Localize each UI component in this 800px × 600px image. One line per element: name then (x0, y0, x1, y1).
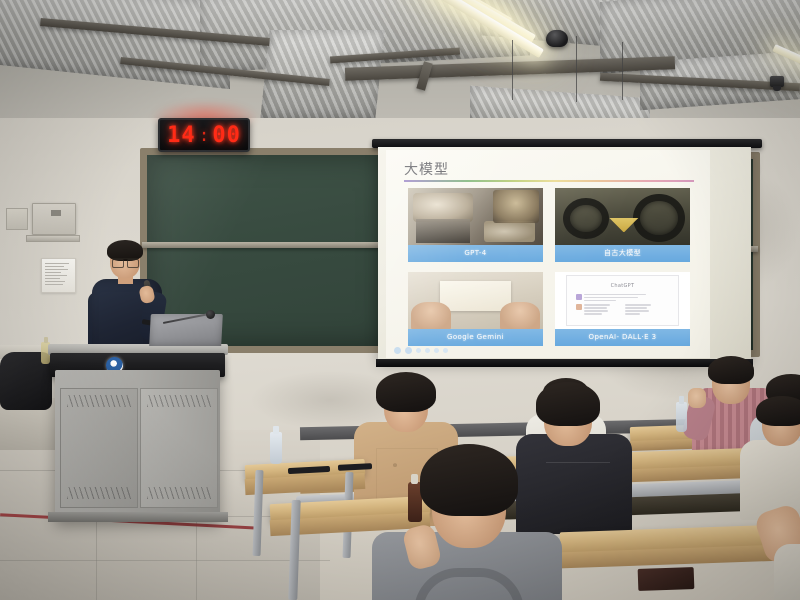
wall-camera (770, 76, 784, 87)
pen-icon (416, 348, 421, 353)
clock-separator: : (199, 125, 210, 146)
switch-strip (26, 235, 80, 242)
lectern-base (48, 512, 228, 522)
water-bottle (270, 432, 282, 464)
presentation-slide: 大模型 GPT-4 自古大模型 (386, 150, 710, 358)
led-wall-clock: 14 : 00 (158, 118, 250, 152)
bottle-cap (411, 474, 418, 484)
bottle-cap (273, 426, 279, 434)
panel-caption: OpenAI- DALL·E 3 (555, 329, 690, 346)
lectern-door-right[interactable] (140, 388, 218, 508)
projection-screen: 大模型 GPT-4 自古大模型 (378, 147, 751, 361)
dome-security-camera (546, 30, 568, 47)
circle-icon (443, 348, 448, 353)
slide-panel-dalle: ChatGPT (555, 272, 690, 346)
circle-icon (425, 348, 430, 353)
notice-sheet (41, 258, 76, 293)
bottle-cap (679, 396, 684, 404)
duct-hanger (512, 40, 513, 100)
panel-caption: 自古大模型 (555, 245, 690, 262)
chalk-rail (142, 242, 392, 248)
slide-panel-ziyan: 自古大模型 (555, 188, 690, 262)
clock-hours: 14 (167, 123, 196, 148)
lecture-hall-photo: 14 : 00 大模型 GPT-4 (0, 0, 800, 600)
slide-footer-icons (394, 347, 448, 354)
panel-image-tyres (555, 188, 690, 245)
panel-caption: Google Gemini (408, 329, 543, 346)
duct-hanger (576, 36, 577, 102)
electrical-box (6, 208, 28, 230)
hvac-duct (470, 86, 650, 118)
electrical-panel (32, 203, 76, 235)
slide-panel-grid: GPT-4 自古大模型 Google G (408, 188, 690, 346)
circle-icon (394, 347, 401, 354)
glasses-icon (112, 258, 139, 265)
screen-bottom-bar (376, 359, 753, 367)
duct-hanger (622, 42, 623, 100)
water-bottle (676, 402, 687, 432)
panel-image-chatgpt-ui: ChatGPT (555, 272, 690, 329)
slide-title: 大模型 (404, 159, 449, 179)
panel-caption: GPT-4 (408, 245, 543, 262)
ceiling (0, 0, 800, 118)
slide-panel-gemini: Google Gemini (408, 272, 543, 346)
lectern-door-left[interactable] (60, 388, 138, 508)
circle-icon (405, 347, 412, 354)
slide-divider (404, 180, 694, 182)
slide-panel-gpt4: GPT-4 (408, 188, 543, 262)
wallet-on-desk[interactable] (638, 567, 695, 591)
shirt-graphic (546, 462, 610, 506)
panel-image-hands-paper (408, 272, 543, 329)
clock-minutes: 00 (212, 123, 241, 148)
chatgpt-card-heading: ChatGPT (567, 283, 678, 289)
circle-icon (434, 348, 439, 353)
panel-image-collage (408, 188, 543, 245)
hvac-duct (0, 0, 230, 89)
microphone-head (206, 310, 215, 319)
